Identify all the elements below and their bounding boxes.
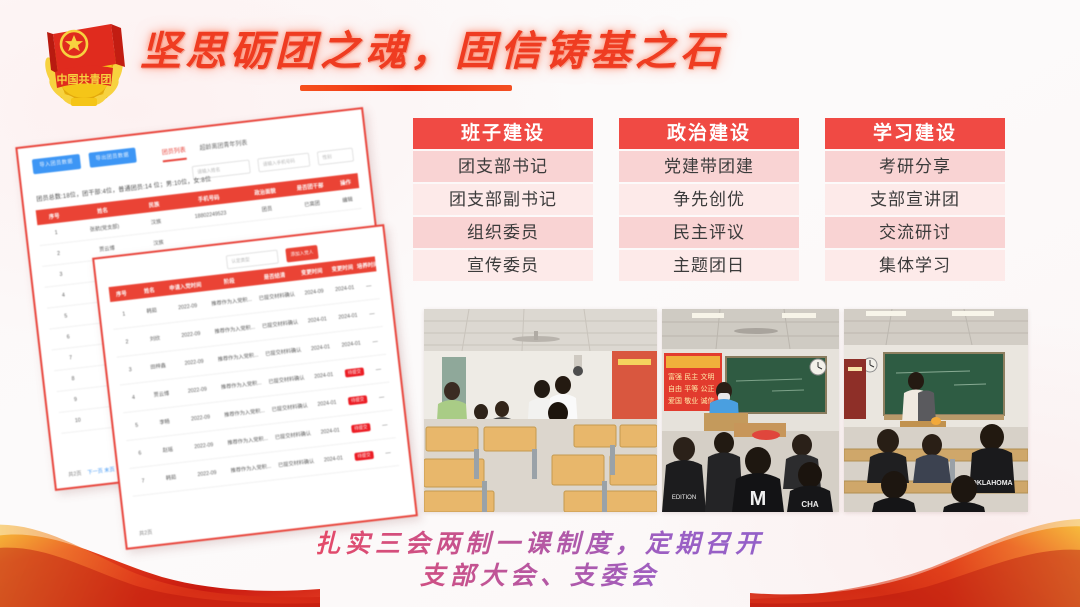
table-row: 团支部副书记 — [413, 184, 593, 215]
cell-cadre — [292, 222, 337, 227]
cell-change-1: 2024-01 — [311, 399, 344, 409]
tab-member-list[interactable]: 团员列表 — [161, 145, 187, 163]
table-row: 考研分享 — [825, 151, 1005, 182]
cell-train: — — [378, 449, 397, 457]
cell-no: 3 — [43, 270, 79, 280]
screenshot-party-applicants[interactable]: 认定类型 添加入党人 序号 姓名 申请入党时间 阶段 是否结清 变更时间 变更时… — [92, 224, 418, 550]
table-row: 交流研讨 — [825, 217, 1005, 248]
cell-change-2: 2024-01 — [336, 339, 366, 348]
photo-classroom-discussion — [424, 309, 657, 512]
table-row: 民主评议 — [619, 217, 799, 248]
svg-text:爱国 敬业 诚信: 爱国 敬业 诚信 — [668, 396, 714, 405]
tab-overage-youth-list[interactable]: 超龄离团青年列表 — [199, 138, 248, 156]
cell-nation: 汉族 — [137, 237, 180, 249]
table-header-zhengzhi: 政治建设 — [619, 118, 799, 149]
page-title: 坚思砺团之魂，固信铸基之石 — [140, 22, 700, 80]
col-no: 序号 — [36, 210, 72, 222]
cell-status-badge[interactable]: 待提交 — [349, 450, 379, 461]
cell-apply: 2022-09 — [187, 468, 228, 479]
cyl-emblem-logo: 中国共青团 — [33, 12, 135, 112]
cell-name: 田梓鑫 — [142, 361, 175, 372]
table-row: 争先创优 — [619, 184, 799, 215]
construction-tables: 班子建设 团支部书记 团支部副书记 组织委员 宣传委员 政治建设 党建带团建 争… — [413, 118, 1005, 283]
add-applicant-button[interactable]: 添加入党人 — [285, 245, 318, 263]
cell-apply: 2022-09 — [180, 413, 221, 424]
cell-phone — [179, 232, 247, 240]
applicant-table: 序号 姓名 申请入党时间 阶段 是否结清 变更时间 变更时间 培养时间 1 韩茹… — [109, 256, 399, 496]
cell-train: — — [359, 282, 378, 290]
cell-no: 2 — [41, 249, 77, 259]
cell-train: — — [362, 310, 381, 318]
cell-change-1: 2024-01 — [301, 315, 334, 325]
cell-phone: 18802249523 — [177, 208, 245, 222]
presentation-slide: 中国共青团 坚思砺团之魂，固信铸基之石 导入团员数据 导出团员数据 团员列表 超… — [0, 0, 1080, 607]
cell-train: — — [372, 393, 391, 401]
cell-status-badge[interactable]: 待提交 — [346, 422, 376, 433]
col-no: 序号 — [109, 288, 134, 299]
status-badge[interactable]: 待提交 — [348, 395, 368, 405]
cell-no: 4 — [121, 393, 146, 402]
cell-stage: 推荐作为入党积... — [220, 407, 269, 419]
cell-apply: 2022-09 — [177, 385, 218, 396]
col-apply-time: 申请入党时间 — [165, 280, 206, 293]
cell-no: 8 — [55, 374, 91, 384]
table-row: 宣传委员 — [413, 250, 593, 281]
cell-stage: 推荐作为入党积... — [207, 295, 256, 307]
cell-no: 7 — [131, 477, 156, 486]
svg-text:EDITION: EDITION — [672, 495, 696, 501]
table-row: 集体学习 — [825, 250, 1005, 281]
screenshot-tabs: 团员列表 超龄离团青年列表 — [161, 138, 248, 163]
pager-total: 共2页 — [68, 470, 82, 478]
cell-no: 7 — [53, 353, 89, 363]
cell-apply: 2022-09 — [174, 357, 215, 368]
cell-settle: 已提交材料确认 — [255, 290, 298, 302]
table-row: 团支部书记 — [413, 151, 593, 182]
table-header-xuexi: 学习建设 — [825, 118, 1005, 149]
cell-settle: 已提交材料确认 — [271, 430, 314, 442]
table-xuexi-jianshe: 学习建设 考研分享 支部宣讲团 交流研讨 集体学习 — [825, 118, 1005, 283]
cell-stage: 推荐作为入党积... — [214, 351, 263, 363]
screenshot-stack: 导入团员数据 导出团员数据 团员列表 超龄离团青年列表 请输入姓名 请输入手机号… — [16, 120, 416, 540]
cell-train: — — [365, 337, 384, 345]
col-change-2: 变更时间 — [327, 262, 357, 273]
svg-text:自由 平等 公正: 自由 平等 公正 — [668, 384, 714, 393]
cell-no: 10 — [60, 416, 96, 426]
export-members-button[interactable]: 导出团员数据 — [88, 147, 137, 167]
svg-text:M: M — [750, 488, 767, 510]
cell-name: 刘欣 — [139, 333, 172, 344]
cell-name: 赵瑶 — [151, 445, 184, 456]
svg-text:富强 民主 文明: 富强 民主 文明 — [668, 372, 714, 381]
screenshot-pager: 共2页 下一页 末页 — [68, 466, 115, 478]
photo-gallery: 富强 民主 文明 自由 平等 公正 爱国 敬业 诚信 — [424, 309, 1028, 512]
svg-text:OKLAHOMA: OKLAHOMA — [971, 480, 1012, 487]
col-nation: 民族 — [133, 198, 176, 211]
col-name: 姓名 — [133, 284, 166, 296]
photo-branch-presentation: OKLAHOMA — [844, 309, 1028, 512]
cell-no: 5 — [48, 312, 84, 322]
cell-no: 4 — [45, 291, 81, 301]
cell-change-1: 2024-09 — [298, 287, 331, 297]
recognition-type-select[interactable]: 认定类型 — [226, 250, 279, 270]
title-block: 坚思砺团之魂，固信铸基之石 — [140, 22, 700, 102]
status-badge[interactable]: 待提交 — [344, 367, 364, 377]
cell-no: 5 — [124, 421, 149, 430]
cell-no: 6 — [50, 332, 86, 342]
cell-status: 团员 — [244, 203, 290, 215]
col-settle: 是否结清 — [253, 269, 297, 282]
cell-cadre: 已离团 — [289, 197, 335, 209]
cell-no: 3 — [118, 365, 143, 374]
cell-op[interactable] — [337, 219, 363, 222]
cell-name: 韩茹 — [135, 306, 168, 317]
table-row: 支部宣讲团 — [825, 184, 1005, 215]
table-row: 主题团日 — [619, 250, 799, 281]
cell-status-badge[interactable]: 待提交 — [339, 366, 369, 377]
cell-status-badge[interactable]: 待提交 — [343, 394, 373, 405]
cell-no: 6 — [128, 449, 153, 458]
cell-stage: 推荐作为入党积... — [223, 434, 272, 446]
title-underline-bar — [300, 85, 512, 91]
col-op: 操作 — [332, 177, 359, 188]
table-banzi-jianshe: 班子建设 团支部书记 团支部副书记 组织委员 宣传委员 — [413, 118, 593, 283]
cell-op[interactable]: 编辑 — [334, 194, 361, 204]
table-row: 党建带团建 — [619, 151, 799, 182]
cell-change-2: 2024-01 — [330, 284, 360, 293]
cell-no: 9 — [57, 395, 93, 405]
emblem-banner-text: 中国共青团 — [57, 72, 112, 86]
cell-change-1: 2024-01 — [314, 426, 347, 436]
cell-no: 1 — [38, 228, 74, 238]
cell-stage: 推荐作为入党积... — [210, 323, 259, 335]
cell-apply: 2022-09 — [167, 301, 208, 312]
svg-text:CHA: CHA — [801, 500, 819, 509]
cell-change-1: 2024-01 — [304, 343, 337, 353]
cell-change-1: 2024-01 — [317, 454, 350, 464]
cell-stage: 推荐作为入党积... — [217, 379, 266, 391]
cell-train: — — [375, 421, 394, 429]
cell-settle: 已提交材料确认 — [268, 402, 311, 414]
cell-name: 韩茹 — [155, 472, 188, 483]
gender-select[interactable]: 性别 — [317, 147, 354, 165]
cell-name: 李畅 — [148, 417, 181, 428]
status-badge[interactable]: 待提交 — [351, 423, 371, 433]
ribbon-decoration-right — [750, 517, 1080, 607]
cell-status — [247, 227, 292, 232]
cell-train: — — [369, 365, 388, 373]
phone-search-input[interactable]: 请输入手机号码 — [257, 153, 310, 173]
cell-no: 2 — [115, 338, 140, 347]
cell-name: 贾云博 — [145, 389, 178, 400]
table-header-banzi: 班子建设 — [413, 118, 593, 149]
cell-nation: 汉族 — [135, 216, 178, 228]
cell-settle: 已提交材料确认 — [265, 374, 308, 386]
col-change-1: 变更时间 — [295, 265, 328, 277]
col-train: 培养时间 — [356, 260, 376, 270]
screenshot-toolbar: 导入团员数据 导出团员数据 — [32, 147, 137, 174]
cell-change-1: 2024-01 — [307, 371, 340, 381]
pager-next-link[interactable]: 下一页 末页 — [87, 466, 115, 476]
cell-stage: 推荐作为入党积... — [227, 462, 276, 474]
cell-apply: 2022-09 — [183, 440, 224, 451]
ribbon-decoration-left — [0, 519, 320, 607]
table-row: 组织委员 — [413, 217, 593, 248]
cell-change-2: 2024-01 — [333, 312, 363, 321]
cell-settle: 已提交材料确认 — [258, 318, 301, 330]
cell-no: 1 — [111, 310, 136, 319]
table-zhengzhi-jianshe: 政治建设 党建带团建 争先创优 民主评议 主题团日 — [619, 118, 799, 283]
cell-settle: 已提交材料确认 — [262, 346, 305, 358]
cell-apply: 2022-09 — [171, 329, 212, 340]
import-members-button[interactable]: 导入团员数据 — [32, 154, 81, 174]
cell-settle: 已提交材料确认 — [274, 457, 317, 469]
status-badge[interactable]: 待提交 — [354, 450, 374, 460]
photo-core-values-lecture: 富强 民主 文明 自由 平等 公正 爱国 敬业 诚信 — [662, 309, 839, 512]
cell-name: 张航(党支部) — [74, 221, 136, 235]
